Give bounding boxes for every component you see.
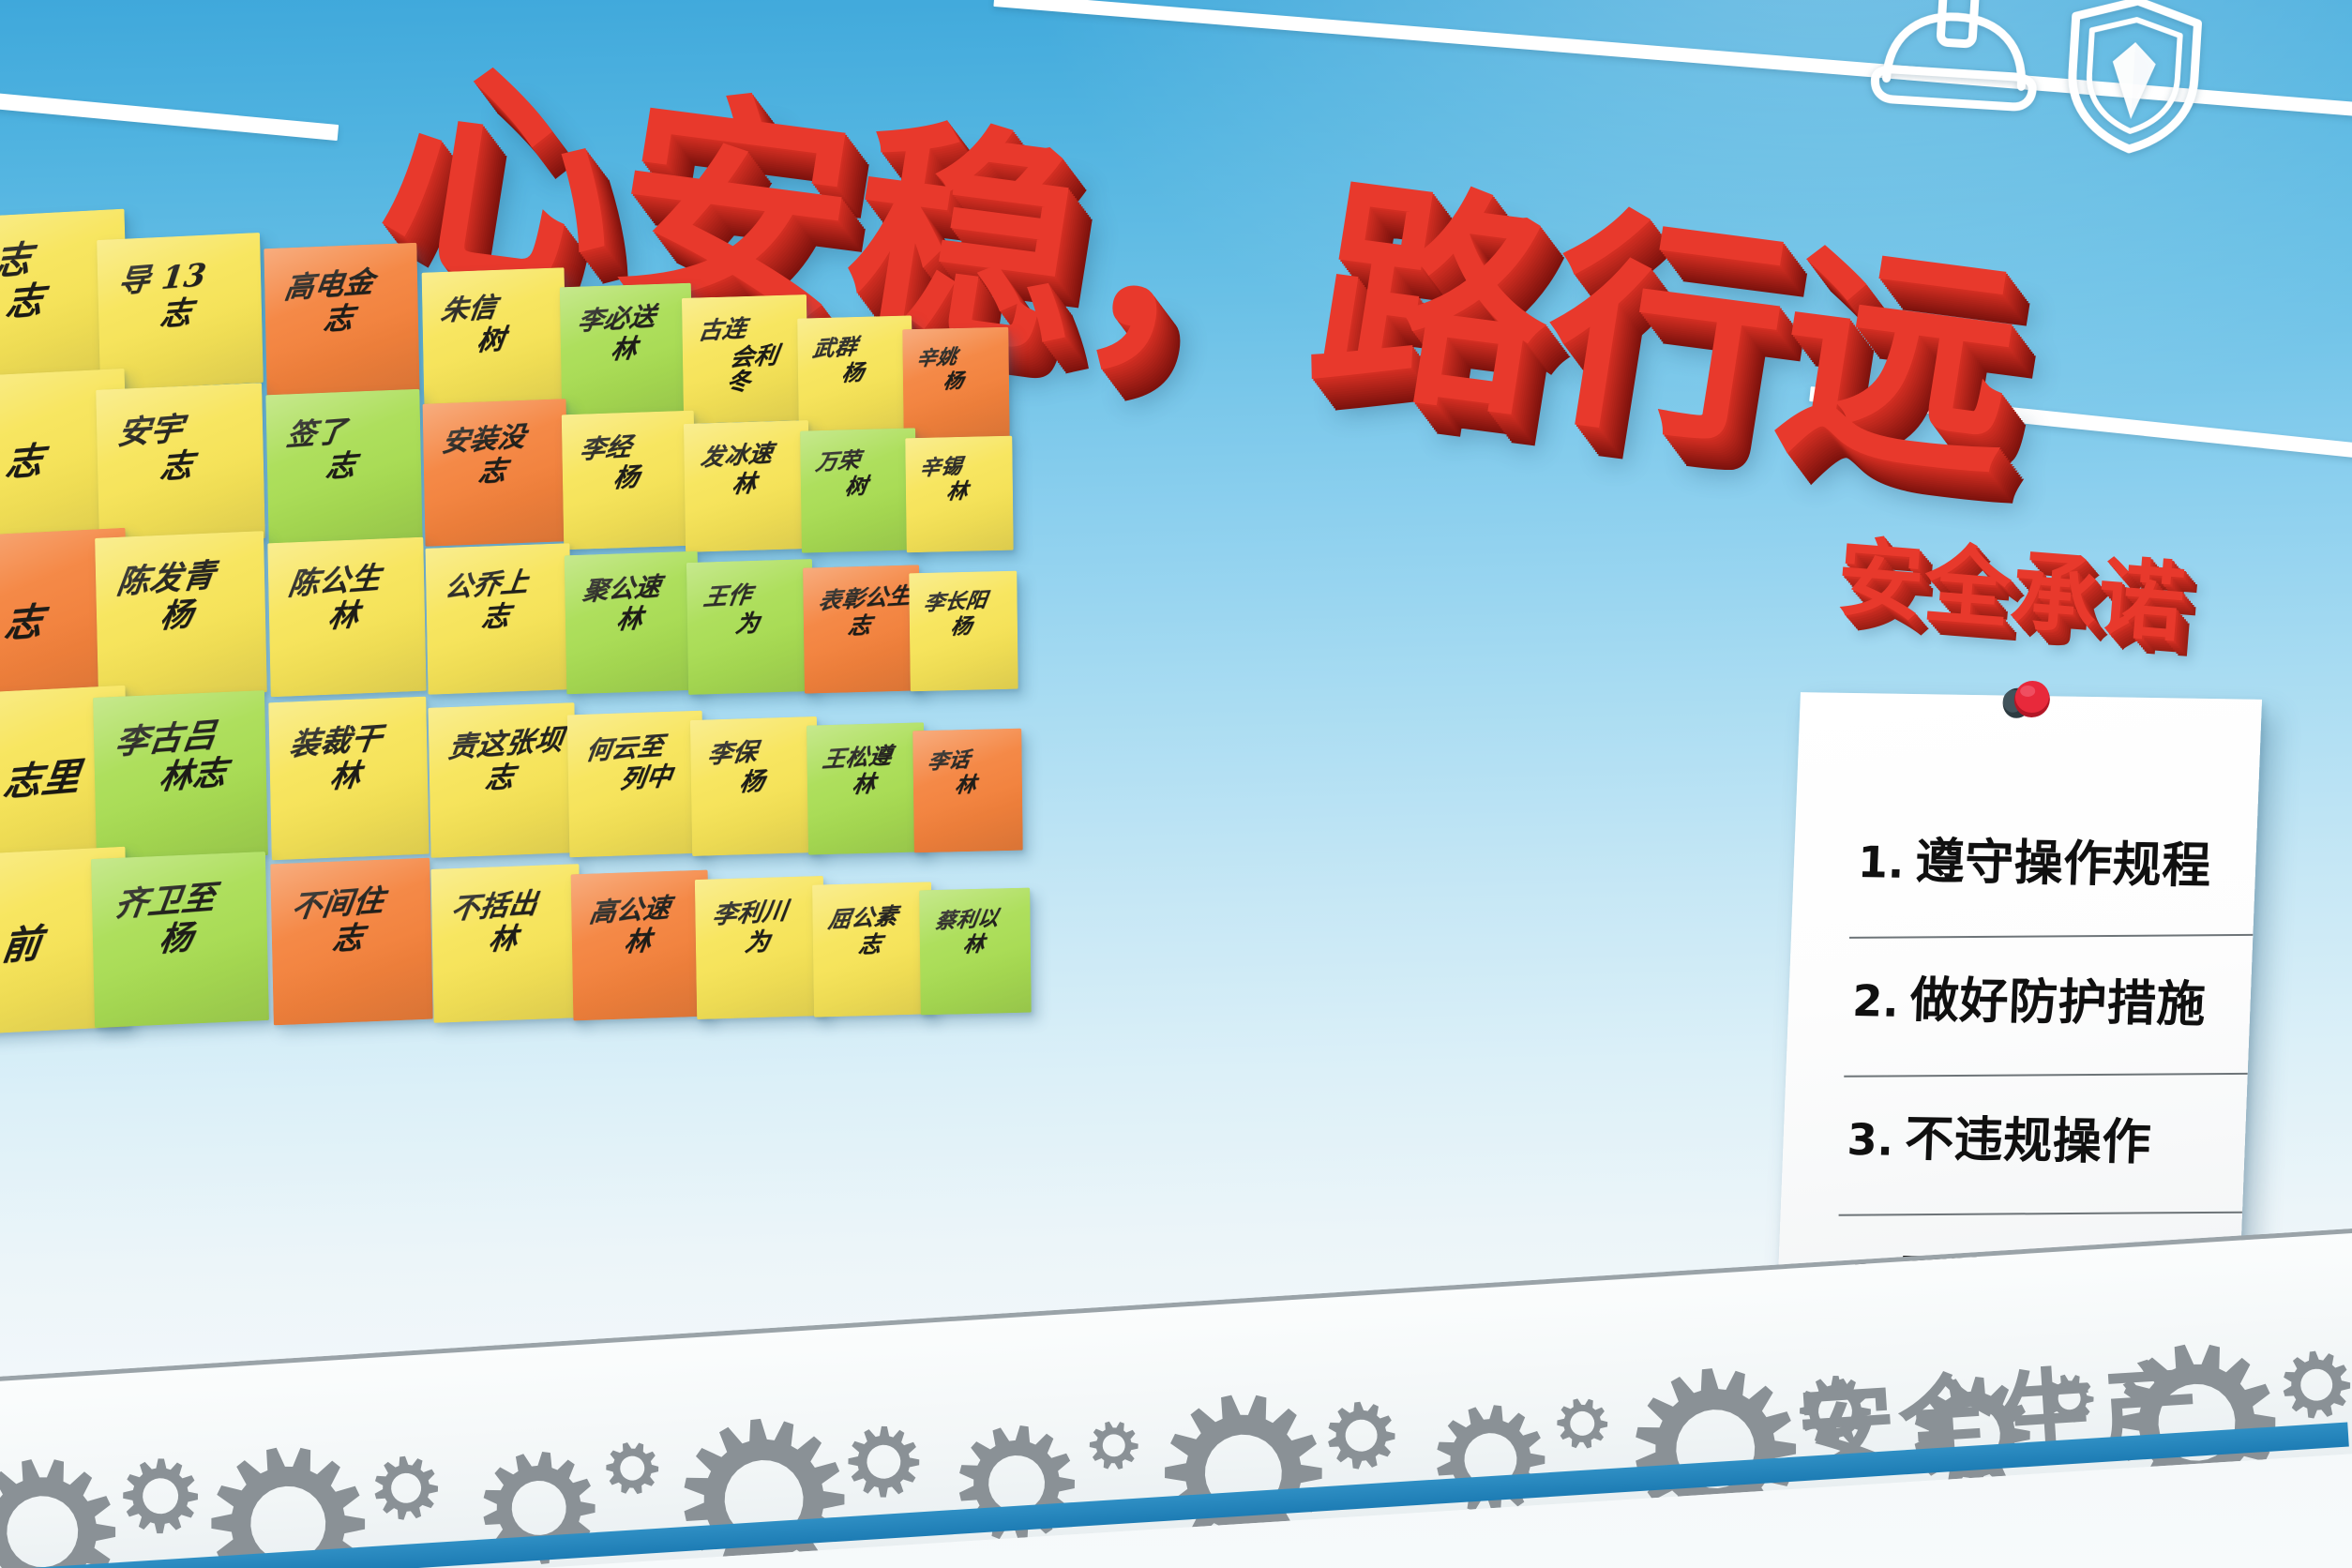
note-signature: 万荣树 <box>805 445 915 542</box>
note-signature: 装裁干林 <box>276 719 425 847</box>
note-signature: 屈公素志 <box>817 901 931 1005</box>
note-signature: 蔡利以林 <box>923 906 1030 1003</box>
sticky-note[interactable]: 古连会利冬 <box>682 294 808 424</box>
note-signature: 辛锡林 <box>909 453 1012 543</box>
note-signature: 高电金志 <box>271 264 415 384</box>
sticky-note[interactable]: 陈发青杨 <box>95 531 267 700</box>
sticky-note[interactable]: 陈公生林 <box>267 537 426 698</box>
sticky-note[interactable]: 李话林 <box>912 729 1023 853</box>
gear-icon <box>0 1455 120 1568</box>
commitment-item-rule <box>1839 1212 2242 1216</box>
sticky-note[interactable]: 不间住志 <box>270 858 432 1026</box>
sticky-note[interactable]: 王作为 <box>686 559 814 695</box>
note-signature: 李经杨 <box>567 430 693 538</box>
note-signature: 辛姚杨 <box>907 343 1008 430</box>
note-signature: 武群杨 <box>802 333 912 427</box>
commitment-item-text: 做好防护措施 <box>1909 960 2208 1035</box>
note-signature: 安宇志 <box>104 405 260 532</box>
sticky-note[interactable]: 王松遵林 <box>807 722 926 854</box>
sticky-note[interactable]: 装裁干林 <box>268 697 429 861</box>
note-signature: 公乔上志 <box>432 565 569 682</box>
sticky-note[interactable]: 安装没志 <box>423 399 569 547</box>
sticky-note[interactable]: 屈公素志 <box>812 882 933 1017</box>
commitment-item-text: 遵守操作规程 <box>1914 822 2212 897</box>
commitment-item: 1.遵守操作规程 <box>1848 821 2276 966</box>
commitment-item: 2.做好防护措施 <box>1843 959 2270 1105</box>
gear-icon <box>372 1455 440 1522</box>
note-signature: 安装没志 <box>430 419 565 534</box>
note-signature: 高公速林 <box>577 891 708 1007</box>
commitment-item-number: 2. <box>1851 975 1900 1027</box>
note-signature: 陈发青杨 <box>103 554 262 686</box>
sticky-note[interactable]: 不括出林 <box>430 864 581 1023</box>
gear-icon <box>846 1424 922 1500</box>
sticky-note[interactable]: 签了志 <box>265 389 422 545</box>
note-signature: 签了志 <box>273 411 418 532</box>
note-signature: 李保杨 <box>695 736 816 844</box>
commitment-item-rule <box>1849 934 2253 939</box>
note-signature: 发冰速林 <box>688 439 807 541</box>
commitment-heading: 安全承诺 <box>1834 535 2189 648</box>
note-signature: 责这张坝志 <box>435 725 574 845</box>
note-signature: 李古吕林志 <box>101 715 263 849</box>
gear-icon <box>1326 1400 1397 1471</box>
note-signature: 李利川为 <box>700 897 823 1007</box>
sticky-note[interactable]: 李古吕林志 <box>93 690 268 863</box>
gear-icon <box>605 1440 660 1496</box>
sticky-note[interactable]: 朱信树 <box>422 267 567 412</box>
gear-icon <box>121 1456 201 1536</box>
sticky-note[interactable]: 齐卫至杨 <box>91 852 269 1028</box>
sticky-note[interactable]: 李利川为 <box>695 876 825 1019</box>
sticky-note[interactable]: 李保杨 <box>690 716 819 856</box>
poster-stage: 心安稳，路行远 付志志导 13志高电金志朱信树李必送林古连会利冬武群杨辛姚杨志志… <box>0 0 2352 1568</box>
note-signature: 导 13志 <box>105 254 258 377</box>
sticky-note[interactable]: 蔡利以林 <box>919 888 1032 1016</box>
sticky-note[interactable]: 李经杨 <box>562 411 696 550</box>
shield-icon <box>2058 0 2209 158</box>
sticky-note[interactable]: 万荣树 <box>800 428 917 552</box>
note-signature: 何云至列中 <box>573 731 702 845</box>
note-signature: 陈公生林 <box>275 560 422 684</box>
note-signature: 古连会利冬 <box>687 313 807 414</box>
sticky-note[interactable]: 高电金志 <box>264 243 419 397</box>
sticky-note[interactable]: 武群杨 <box>797 315 913 436</box>
note-signature: 不间住志 <box>278 882 429 1012</box>
commitment-item-number: 1. <box>1857 837 1906 888</box>
commitment-item-text: 不违规操作 <box>1904 1099 2153 1173</box>
sticky-note[interactable]: 导 13志 <box>97 233 264 390</box>
sticky-note[interactable]: 高公速林 <box>571 870 711 1021</box>
hard-hat-icon <box>1867 0 2044 131</box>
note-signature: 王作为 <box>691 579 811 684</box>
signature-note-wall: 付志志导 13志高电金志朱信树李必送林古连会利冬武群杨辛姚杨志志安宇志签了志安装… <box>0 0 1613 1463</box>
note-signature: 王松遵林 <box>811 742 924 844</box>
gear-icon <box>1556 1396 1609 1450</box>
sticky-note[interactable]: 李长阳杨 <box>909 571 1018 692</box>
note-signature: 朱信树 <box>429 288 564 400</box>
sticky-note[interactable]: 辛锡林 <box>905 436 1013 553</box>
note-signature: 齐卫至杨 <box>99 876 264 1013</box>
sticky-note[interactable]: 责这张坝志 <box>429 702 578 858</box>
gear-icon <box>1088 1420 1139 1471</box>
sticky-note[interactable]: 聚公速林 <box>565 551 701 695</box>
commitment-item-rule <box>1844 1073 2247 1078</box>
sticky-note[interactable]: 何云至列中 <box>567 711 705 858</box>
sticky-note[interactable]: 李必送林 <box>560 283 693 419</box>
push-pin-icon <box>1992 678 2056 724</box>
sticky-note[interactable]: 辛姚杨 <box>902 327 1009 441</box>
commitment-item: 3.不违规操作 <box>1838 1098 2266 1244</box>
note-signature: 不括出林 <box>437 886 578 1009</box>
sticky-note[interactable]: 表彰公生志 <box>803 565 921 693</box>
note-signature: 李话林 <box>916 746 1021 842</box>
note-signature: 李长阳杨 <box>912 588 1017 681</box>
gear-icon <box>2281 1349 2352 1420</box>
commitment-item-number: 3. <box>1847 1114 1895 1166</box>
note-signature: 聚公速林 <box>570 571 697 682</box>
sticky-note[interactable]: 安宇志 <box>96 383 265 546</box>
note-signature: 表彰公生志 <box>807 583 919 683</box>
note-signature: 李必送林 <box>565 302 690 407</box>
sticky-note[interactable]: 公乔上志 <box>426 543 573 695</box>
sticky-note[interactable]: 发冰速林 <box>684 420 810 552</box>
